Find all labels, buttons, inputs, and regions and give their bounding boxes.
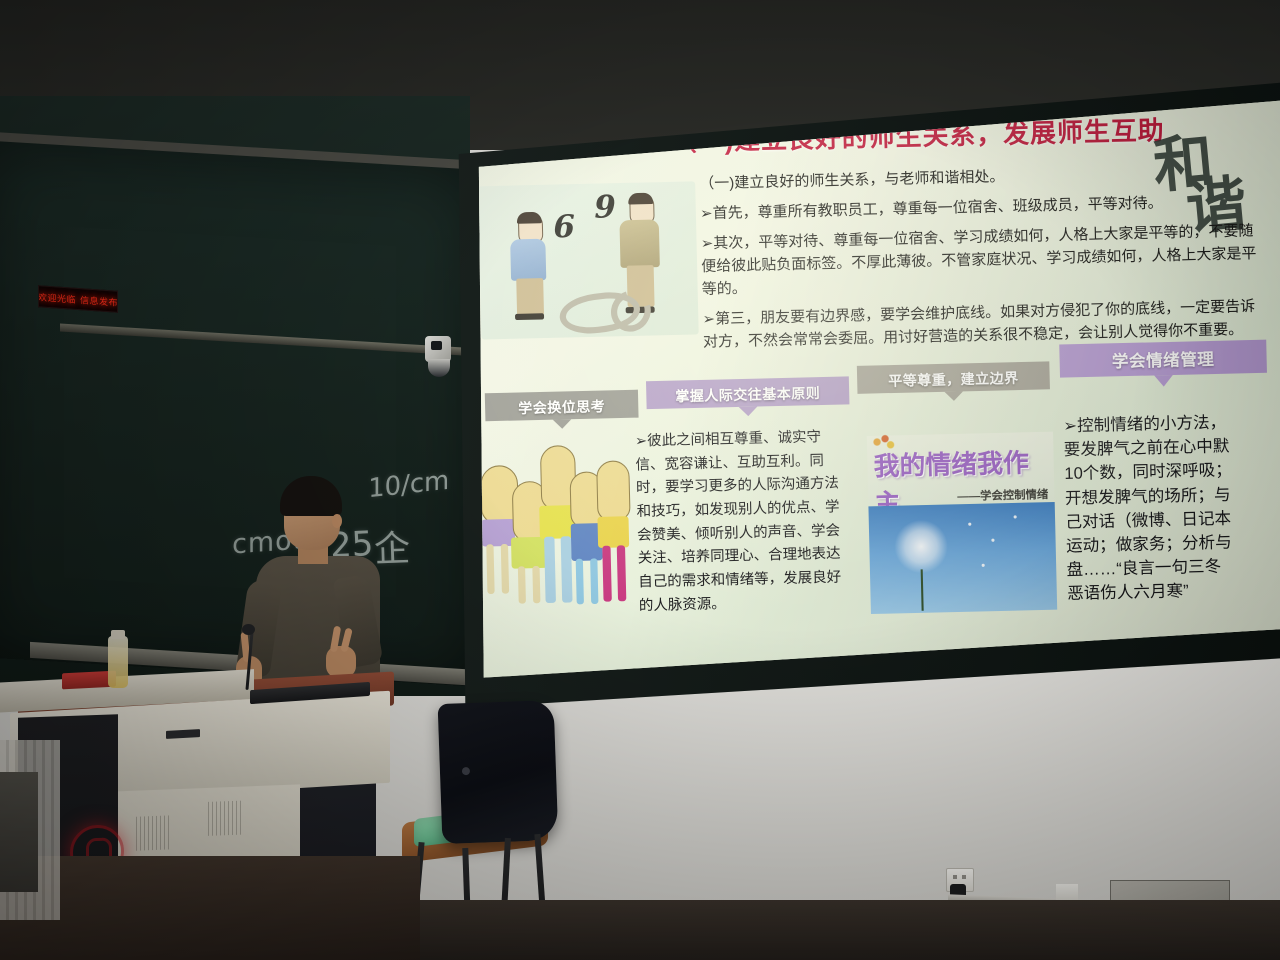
figure-hair bbox=[628, 193, 653, 205]
banner-social-principles[interactable]: 掌握人际交往基本原则 bbox=[646, 376, 849, 409]
bullet-item: ➢首先，尊重所有教职员工，尊重每一位宿舍、班级成员，平等对待。 bbox=[700, 190, 1259, 226]
cartoon-person-legs bbox=[602, 546, 612, 602]
cartoon-person-legs bbox=[501, 544, 509, 594]
projection-screen[interactable]: 长春工大云桌面 ☰ 选项(O) ⑂ 连接 USB 设备(U) ⌨ 发送 Ctrl bbox=[474, 92, 1280, 686]
figure-hair bbox=[517, 212, 542, 224]
wall-camera-icon bbox=[425, 336, 453, 382]
cartoon-person-legs bbox=[544, 537, 556, 603]
cartoon-person-legs bbox=[617, 545, 627, 601]
classroom-scene: 10/cm cmot 25 企 欢迎光临 信息发布 长春工大云桌面 ☰ 选项(O… bbox=[0, 0, 1280, 960]
figure-shoe bbox=[515, 313, 544, 320]
figure-legs bbox=[516, 278, 544, 316]
banner-emotion-management[interactable]: 学会情绪管理 bbox=[1059, 340, 1267, 378]
banner-perspective-taking[interactable]: 学会换位思考 bbox=[485, 390, 639, 422]
cartoon-person-legs bbox=[590, 558, 598, 604]
camera-dome bbox=[428, 359, 450, 377]
slide-bullet-left: ➢彼此之间相互尊重、诚实守信、宽容谦让、互助互利。同时，要学习更多的人际沟通方法… bbox=[635, 424, 846, 617]
bottle-cap bbox=[111, 630, 125, 639]
slide-canvas[interactable]: 长春工大云桌面 ☰ 选项(O) ⑂ 连接 USB 设备(U) ⌨ 发送 Ctrl bbox=[474, 92, 1280, 686]
slide-subtitle: （一)建立良好的师生关系，与老师和谐相处。 bbox=[699, 160, 1258, 196]
floor-left bbox=[0, 856, 420, 960]
cartoon-number-six: 6 bbox=[553, 209, 575, 246]
slide-bullet-right: ➢控制情绪的小方法， 要发脾气之前在心中默 10个数，同时深呼吸； 开想发脾气的… bbox=[1063, 409, 1280, 607]
cartoon-person-legs bbox=[486, 544, 494, 594]
dandelion-seed bbox=[982, 564, 985, 567]
draped-jacket[interactable] bbox=[438, 700, 559, 844]
slide-bullets-top: （一)建立良好的师生关系，与老师和谐相处。 ➢首先，尊重所有教职员工，尊重每一位… bbox=[699, 160, 1262, 362]
dandelion-seed bbox=[1014, 515, 1017, 518]
figure-torso bbox=[510, 239, 546, 281]
cartoon-person bbox=[596, 460, 631, 521]
dandelion-stem bbox=[921, 569, 924, 610]
bullet-line: 恶语伤人六月寒” bbox=[1067, 577, 1280, 607]
banner-respect-boundaries[interactable]: 平等尊重，建立边界 bbox=[857, 361, 1050, 393]
friends-group-illustration bbox=[474, 435, 635, 625]
led-text-1: 欢迎光临 bbox=[38, 290, 76, 306]
dandelion-seed bbox=[968, 523, 971, 526]
cartoon-person-legs bbox=[576, 559, 584, 605]
side-cabinet bbox=[0, 772, 38, 892]
cartoon-person-legs bbox=[532, 566, 540, 603]
cartoon-number-nine: 9 bbox=[594, 189, 616, 226]
cartoon-person-outfit bbox=[597, 516, 629, 548]
led-text-2: 信息发布 bbox=[80, 293, 118, 309]
cartoon-person-legs bbox=[518, 566, 526, 603]
camera-lens bbox=[431, 341, 442, 350]
figure-torso bbox=[619, 219, 659, 268]
dandelion-head bbox=[894, 519, 949, 574]
presenter-ear bbox=[332, 514, 342, 528]
lectern-vent bbox=[136, 815, 170, 850]
dandelion-seed bbox=[991, 539, 994, 542]
bullet-item: ➢其次，平等对待、尊重每一位宿舍、学习成绩如何，人格上大家是平等的，不要随便给彼… bbox=[700, 220, 1260, 302]
perspective-cartoon-illustration: 6 9 bbox=[478, 181, 699, 339]
lectern-vent bbox=[208, 801, 242, 836]
dandelion-photo bbox=[868, 502, 1057, 614]
microphone-head-icon bbox=[242, 624, 255, 635]
water-bottle[interactable] bbox=[108, 636, 128, 688]
emotion-graphic: 我的情绪我作主 ——学会控制情绪 bbox=[867, 432, 1055, 505]
cartoon-figure-left bbox=[510, 214, 554, 323]
cartoon-person-outfit bbox=[511, 537, 547, 569]
presenter-hair bbox=[280, 476, 342, 516]
